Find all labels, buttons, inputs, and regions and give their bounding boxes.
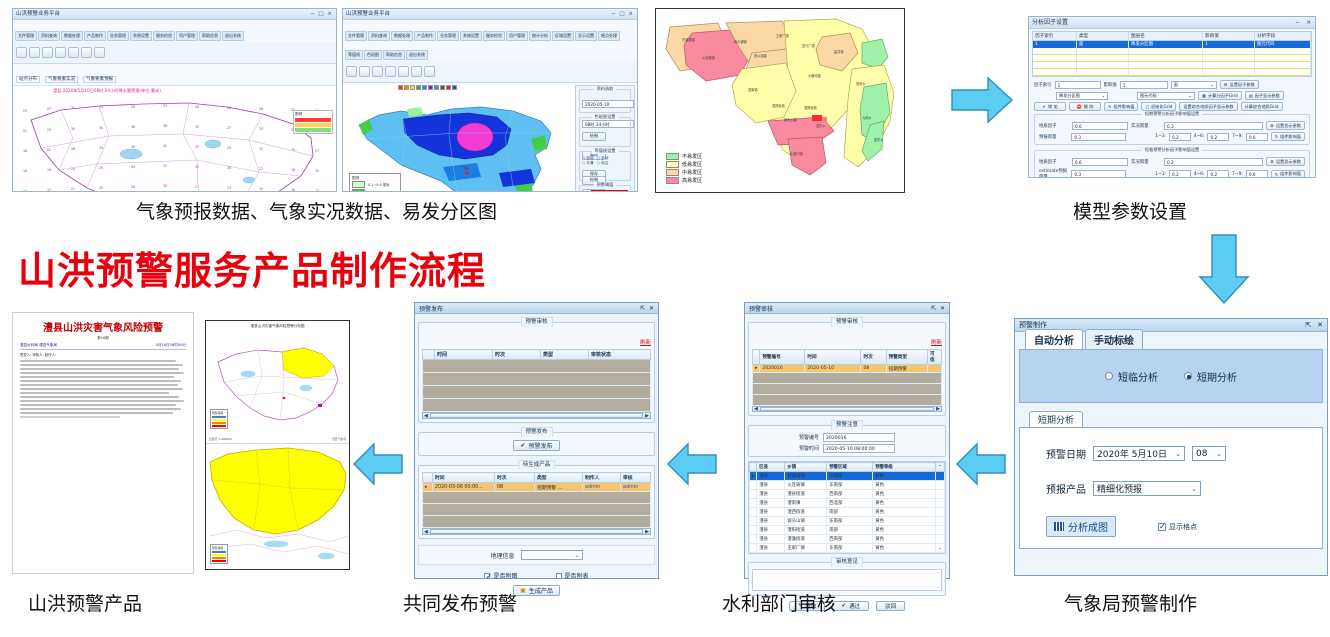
panel-warning-document[interactable]: 澧县山洪灾害气象风险预警 第16期 澧县水利局 澧县气象局 5月10日08时00… [12,312,194,574]
table-row-empty [423,516,651,528]
svg-text:23: 23 [23,109,27,113]
table-row[interactable]: 澧县 火连坡镇 东南部 黄色 [750,481,945,490]
factor-show-param-button[interactable]: ▤因子显示参数 [1245,91,1284,100]
menu-item[interactable]: 退出系统 [406,50,428,60]
group-title: 预警发布 [520,427,552,437]
factor-grid-row[interactable] [1033,48,1311,55]
menu-item[interactable]: 业务管理 [107,31,129,41]
cell-level: 黄色 [873,508,936,517]
cell-weight: 1 [1203,41,1255,48]
forecast-map-canvas[interactable]: 澧县 2020年5月10日08时 24小时降水量预报(单位:毫米) 232731… [13,86,336,192]
publish-action-fieldset: 预警发布 ✔预警发布 [418,432,655,456]
arrow-down-icon [1196,233,1252,305]
table-row[interactable]: 澧县 澧澹街道 西南部 黄色 [750,535,945,544]
observed-rain-input-2[interactable]: 0.2 [1164,158,1263,166]
arrow-left-icon [955,440,1007,488]
col-time: 时间 [433,473,495,483]
delete-factor-button[interactable]: ⛔删 除 [1069,102,1101,111]
col-reviewer: 审核 [621,473,651,483]
menu-item[interactable]: 资料查询 [368,31,390,41]
group-title: 预警阈值 [594,182,617,188]
pass-button[interactable]: ✔通过 [832,601,869,611]
table-row-empty [423,492,651,504]
factor-index-label: 因子索引 [1034,82,1052,88]
rainfall-side-dock[interactable]: 资料选取 2020-05-10 08时 24小时 色斑图设置 绘制 清除 保存 … [575,85,635,192]
menu-item[interactable]: 色斑图 [364,50,382,60]
factor-form[interactable]: 因子索引 1 影响值 1 面⌄ ⚙设置因子参数 降发分区图⌄ 图元代码⌄ ▦计算… [1029,77,1315,111]
cell-level: 黄色 [873,472,936,481]
table-row[interactable]: 澧县 澧西街道 南部 黄色 [750,508,945,517]
menu-item[interactable]: 显示设置 [575,31,597,41]
tab-station-distribution[interactable]: 站点分布 [16,76,40,83]
panel-product-maps[interactable]: 澧县山洪灾害气象风险预警分布图 预警等级 [205,320,350,570]
rainfall-menubar[interactable]: 文件管理资料查询数据处理产品制作业务管理系统设置服务检验用户管理统计分析区域设置… [343,20,637,61]
menu-item[interactable]: 数据处理 [61,31,83,41]
menu-item[interactable]: 文件管理 [345,31,367,41]
group-shade-settings: 色斑图设置 绘制 清除 保存 设置 [579,117,631,147]
cell-town: 王家厂镇 [785,544,827,553]
cell-level: 黄色 [873,535,936,544]
pending-products-grid[interactable]: 时间 时次 类型 制作人 审核 ▸ 2020-03-06 00:00... 08… [422,472,651,528]
menu-item[interactable]: 业务管理 [437,31,459,41]
factor-field-select[interactable]: 图元代码 [1140,92,1157,100]
save-icon[interactable] [29,47,40,58]
col-credible: 可信 [928,350,942,365]
color-label: 颜色 [582,191,589,193]
table-row-empty [423,504,651,516]
refresh-link[interactable]: 刷新 [931,340,942,346]
cell-level: 黄色 [873,544,936,553]
svg-text:32: 32 [195,125,199,129]
panel-susceptibility-map[interactable]: 甘溪滩镇火连坡镇 码头铺镇张公庙镇 王家厂镇复兴厂镇 盐井镇大堰垱镇 官垸乡澧南… [655,8,905,193]
observed-rain-label-2: 实况雨量 [1131,159,1161,165]
review-opinion-textarea[interactable]: ⌃ ⌄ [752,569,942,591]
warn-no-input[interactable]: 2020016 [823,433,895,442]
factor-grid-row[interactable] [1033,55,1311,62]
cell-field: 图元代码 [1255,41,1311,48]
group-title: 色斑图设置 [592,114,619,120]
geo-info-row[interactable]: 地理信息 ⌄ [418,545,655,565]
checkbox-icon[interactable] [1158,523,1166,531]
sub-label-2: 4~6: [1194,134,1205,139]
window-controls[interactable]: − □ × [310,9,333,20]
svg-text:26: 26 [259,107,263,111]
svg-text:29: 29 [131,105,135,109]
svg-text:澧东乡: 澧东乡 [816,123,826,128]
publish-review-fieldset: 预警审核 刷新 时间 时次 类型 审核状态 ◀▶ [418,322,655,423]
panel-rainfall-gis[interactable]: 山洪预警业务平台 − □ × 文件管理资料查询数据处理产品制作业务管理系统设置服… [342,8,638,192]
contour-icon[interactable] [411,66,422,77]
warning-detail-grid[interactable]: 区县 乡镇 预警区域 预警等级 ⌃ ▸ 澧县 甘溪滩镇 东南部 黄色 澧县 火连… [749,462,945,553]
legend-title: 预警等级 [212,411,226,415]
menu-item[interactable]: 统计分析 [529,31,551,41]
panel-model-parameters[interactable]: 分析因子设置 − ✕ 因子索引 类型 图层名 影响值 分析字段 1 面 降发分区… [1028,16,1316,178]
review-grid-hscroll[interactable]: ◀▶ [752,406,942,412]
svg-text:火连坡镇: 火连坡镇 [702,55,716,60]
svg-text:城头山镇: 城头山镇 [784,117,798,122]
factor-type-select[interactable]: 面 [1174,81,1178,89]
panel-forecast-titlebar: 山洪预警业务平台 − □ × [13,9,336,20]
pending-grid-hscroll[interactable]: ◀▶ [422,528,651,535]
show-gridpoints-checkbox[interactable]: 显示格点 [1158,522,1197,532]
legend-label: 中易发区 [682,169,702,176]
menu-item[interactable]: 用户管理 [176,31,198,41]
factor-weight-label: 影响值 [1104,82,1117,88]
col-type: 类型 [1077,32,1129,40]
geo-factor-input-2[interactable]: 0.6 [1072,158,1128,166]
tab-short-term-inner[interactable]: 短期分析 [1029,411,1083,427]
calc-factor-grid-button[interactable]: ▦计算分因子Grid [1198,91,1242,100]
svg-text:23: 23 [259,127,263,131]
warning-hour-picker[interactable]: 08⌄ [1192,446,1226,461]
panel-forecast-title: 山洪预警业务平台 [16,9,60,20]
close-icon[interactable]: ✕ [1317,321,1323,329]
zoning-legend: 不易发区 低易发区 中易发区 高易发区 [664,151,726,186]
page-title: 山洪预警服务产品制作流程 [18,240,486,295]
svg-text:17: 17 [47,188,51,192]
legend-swatch [295,128,331,132]
window-controls[interactable]: − ✕ [1295,17,1312,29]
sub-input-3[interactable]: 0.6 [1246,133,1268,141]
scroll-down-icon[interactable]: ⌄ [937,584,940,589]
cell-area: 东南部 [827,481,873,490]
inner-tabstrip[interactable]: 短期分析 [1019,408,1323,427]
short-term-form[interactable]: 预警日期 2020年 5月10日⌄ 08⌄ 预报产品 精细化预报⌄ 分析成图 [1019,427,1323,549]
forecast-menubar[interactable]: 文件管理资料查询数据处理产品制作业务管理系统设置服务检验用户管理帮助信息退出系统 [13,20,336,42]
group-title: 等值线设置 [592,148,619,154]
cell-area: 南部 [827,508,873,517]
refresh-weight-button[interactable]: ✎组件影响值 [1104,102,1138,111]
svg-text:19: 19 [47,168,51,172]
forecast-rain-input-2[interactable]: 0.3 [1071,170,1126,178]
observed-rain-label: 实况雨量 [1131,123,1161,129]
col-county: 区县 [757,463,785,472]
table-row-empty [423,386,651,399]
short-weight-button[interactable]: ✎组件影响值 [1271,132,1305,141]
cell-town: 澧西街道 [785,508,827,517]
legend-entry: 中易发区 [666,169,724,176]
cell-level: 黄色 [873,490,936,499]
svg-text:17: 17 [315,149,319,153]
pin-icon[interactable]: ⇱ [640,305,645,312]
analysis-mode-group[interactable]: 短临分析 短期分析 [1019,349,1323,403]
arrow-left-icon [666,440,718,488]
svg-text:31: 31 [71,106,75,110]
tab-forecast[interactable]: 气象要素预报 [83,76,116,83]
table-row[interactable]: 澧县 城头山镇 东南部 黄色 [750,517,945,526]
observed-rain-input[interactable]: 0.3 [1164,122,1263,130]
menu-item[interactable]: 退出系统 [222,31,244,41]
review-grid[interactable]: 预警编号 时间 时次 预警类型 可信 ▸ 2020016 2020-05-10 … [752,349,942,406]
rainfall-map-canvas[interactable]: 澧县 图例 0.1~9.9 毫米 10~24.9 毫米 25~49.9 毫米 5… [343,83,637,192]
table-row-empty [423,373,651,386]
svg-text:25: 25 [259,147,263,151]
zoom-in-icon[interactable] [55,47,66,58]
product-map-title: 澧县山洪灾害气象风险预警分布图 [206,324,349,329]
pin-icon[interactable]: ⇱ [931,305,936,312]
svg-text:37: 37 [163,164,167,168]
svg-text:九垸乡: 九垸乡 [862,115,872,120]
document-issuers: 澧县水利局 澧县气象局 [20,343,57,348]
warning-info-fieldset: 预警注意 预警编号 2020016 预警时间 2020-05-10 08:00:… [748,425,946,457]
svg-text:大堰垱镇: 大堰垱镇 [808,73,822,78]
make-product-button[interactable]: ▣生成产品 [513,585,560,596]
radio-imminent-analysis[interactable]: 短临分析 [1105,369,1158,384]
short-set-show-button[interactable]: ⚙设置显示参数 [1266,121,1305,130]
menu-item[interactable]: 资料查询 [38,31,60,41]
cell-town: 澧县街道 [785,490,827,499]
checkbox-icon[interactable] [556,573,562,579]
menu-item[interactable]: 服务检验 [483,31,505,41]
product-map-upper[interactable]: 澧县山洪灾害气象风险预警分布图 预警等级 [206,324,349,444]
legend-title: 预警等级 [212,546,226,550]
pin-icon[interactable]: ⇱ [1305,321,1311,329]
legend-entry: 低易发区 [666,161,724,168]
checkbox-icon[interactable] [484,573,490,579]
group-data-select: 资料选取 2020-05-10 08时 24小时 [579,89,631,113]
svg-text:盐井镇: 盐井镇 [834,49,844,54]
svg-text:15: 15 [315,169,319,173]
cell-type: 面 [1077,41,1129,48]
warn-time-input[interactable]: 2020-05-10 08:00:00 [823,444,895,453]
factor-layer-select[interactable]: 降发分区图 [1059,92,1080,100]
menu-item[interactable]: 文件管理 [15,31,37,41]
table-row[interactable]: 澧县 王家厂镇 东南部 黄色⌄ [750,544,945,553]
col-type: 类型 [541,350,589,360]
zoom-in-icon[interactable] [385,66,396,77]
attach-table-checkbox[interactable]: 是否附表 [556,571,589,580]
cell-area: 东南部 [827,517,873,526]
product-map-scale: 比例尺 1:400000 [209,437,232,441]
imminent-set-show-button[interactable]: ⚙设置显示参数 [1266,157,1305,166]
menu-item[interactable]: 数据处理 [391,31,413,41]
svg-text:王家厂镇: 王家厂镇 [776,33,790,38]
cell-county: 澧县 [757,517,785,526]
contour-option[interactable]: ○ 平滑 ○ 标注 [582,161,628,166]
tab-auto-analysis[interactable]: 自动分析 [1025,329,1083,349]
cell-level: 黄色 [873,526,936,535]
shade-draw-button[interactable]: 绘制 [582,132,606,141]
measure-icon[interactable] [81,47,92,58]
group-title: 短临预警分析因子影响值设置 [1142,147,1202,153]
panel-forecast-gis[interactable]: 山洪预警业务平台 − □ × 文件管理资料查询数据处理产品制作业务管理系统设置服… [12,8,337,192]
forecast-rain-label: 预报雨量 [1039,134,1068,140]
refresh-link[interactable]: 刷新 [640,340,651,346]
svg-text:27: 27 [227,126,231,130]
forecast-legend: 图例 [293,110,333,134]
menu-item[interactable]: 区域设置 [552,31,574,41]
product-map-source: 澧县气象局 [332,437,346,441]
make-tabstrip[interactable]: 自动分析 手动标绘 [1015,332,1327,349]
menu-item[interactable]: 产品制作 [84,31,106,41]
cell-county: 澧县 [757,490,785,499]
legend-entry: 不易发区 [666,153,724,160]
menu-item[interactable]: 用户管理 [506,31,528,41]
sub-input-5[interactable]: 0.2 [1207,170,1229,178]
table-row[interactable]: ▸ 2020-03-06 00:00... 08 短期预警 ... admin … [423,483,651,492]
calc-composite-grid-button[interactable]: 计算综合地质Grid [1241,102,1283,111]
table-row[interactable]: 澧县 澧县街道 西南部 黄色 [750,490,945,499]
cell-county: 澧县 [757,508,785,517]
print-icon[interactable] [372,66,383,77]
col-hour: 时次 [861,350,886,365]
pan-icon[interactable] [398,66,409,77]
layers-icon[interactable] [424,66,435,77]
forecast-toolbar[interactable] [13,42,336,64]
init-grid-button[interactable]: ◻初始化Grid [1141,102,1176,111]
close-icon[interactable]: ✕ [940,305,945,312]
menu-item[interactable]: 帮助信息 [199,31,221,41]
reject-button[interactable]: 驳回 [876,601,905,611]
imminent-weight-button[interactable]: ✎组件影响值 [1271,170,1305,179]
set-composite-show-button[interactable]: 设置综合地质因子显示参数 [1179,102,1237,111]
group-imminent-weights: 短临预警分析因子影响值设置 地质因子 0.6 实况雨量 0.2 ⚙设置显示参数 … [1034,150,1310,178]
panel-warning-publish[interactable]: 预警发布 ⇱ ✕ 预警审核 刷新 时间 时次 类型 审核状态 [414,302,659,579]
group-title: 审核意见 [831,557,863,567]
forecast-product-select[interactable]: 精细化预报⌄ [1093,481,1201,496]
menu-item[interactable]: 系统设置 [130,31,152,41]
layers-icon[interactable] [94,47,105,58]
sub-input-1[interactable]: 0.2 [1169,133,1191,141]
col-hour: 时次 [495,473,535,483]
menu-item[interactable]: 等值线 [345,50,363,60]
table-header-row: 时间 时次 类型 审核状态 [423,350,651,360]
svg-text:22: 22 [259,167,263,171]
cell-warn-no: 2020016 [760,365,805,373]
analyze-button[interactable]: 分析成图 [1046,516,1116,537]
review-window-title: 预警审核 [749,304,773,313]
col-hour: 时次 [493,350,541,360]
table-row[interactable]: 澧县 澧南镇 西北部 黄色 [750,499,945,508]
svg-text:27: 27 [47,107,51,111]
col-status: 审核状态 [589,350,651,360]
svg-text:28: 28 [71,147,75,151]
publish-grid-hscroll[interactable]: ◀▶ [422,412,651,419]
product-map-lower[interactable]: 预警等级 [206,444,349,570]
forecast-tabs[interactable]: 站点分布 气象要素实况 气象要素预报 [13,64,336,86]
open-file-icon[interactable] [16,47,27,58]
sub-input-4[interactable]: 0.2 [1169,170,1191,178]
menu-item[interactable]: 系统设置 [460,31,482,41]
forecast-rain-input[interactable]: 0.3 [1071,133,1126,141]
panel-water-review[interactable]: 预警审核 ⇱ ✕ 预警审核 刷新 预警编号 时间 时次 预警类型 可信 [744,302,950,579]
save-icon[interactable] [359,66,370,77]
table-row-empty [753,373,942,384]
factor-index-input[interactable]: 1 [1055,81,1101,89]
attach-options-row[interactable]: 是否附图 是否附表 [418,571,655,580]
document-title: 澧县山洪灾害气象风险预警 [20,319,186,334]
print-icon[interactable] [42,47,53,58]
svg-text:16: 16 [23,169,27,173]
cell-area: 南部 [827,526,873,535]
factor-weight-input[interactable]: 1 [1120,81,1168,89]
cell-county: 澧县 [757,544,785,553]
svg-text:19: 19 [259,187,263,191]
panel-warning-make[interactable]: 预警制作 ⇱ ✕ 自动分析 手动标绘 短临分析 短期分析 短期分析 预 [1014,318,1328,576]
document-issue: 第16期 [20,336,186,341]
pan-icon[interactable] [68,47,79,58]
set-factor-param-button[interactable]: ⚙设置因子参数 [1220,80,1259,89]
table-row[interactable]: ▸ 2020016 2020-05-10 08 短期预警 [753,365,942,373]
open-file-icon[interactable] [346,66,357,77]
cell-town: 澧澹街道 [785,535,827,544]
legend-entry: 0.1~9.9 毫米 [352,181,398,188]
caption-inputs: 气象预报数据、气象实况数据、易发分区图 [136,197,497,224]
radio-icon[interactable] [1184,372,1192,380]
menu-item[interactable]: 服务检验 [153,31,175,41]
factor-grid[interactable]: 因子索引 类型 图层名 影响值 分析字段 1 面 降发分区图 1 图元代码 [1032,31,1312,77]
radio-short-term-analysis[interactable]: 短期分析 [1184,369,1237,384]
factor-grid-row[interactable] [1033,62,1311,69]
threshold-color-swatch[interactable] [591,190,628,192]
scroll-up-icon[interactable]: ⌃ [937,571,940,576]
cell-level: 黄色 [873,517,936,526]
svg-text:23: 23 [227,186,231,190]
col-maker: 制作人 [583,473,621,483]
window-controls[interactable]: − □ × [611,9,634,20]
svg-text:28: 28 [131,185,135,189]
detail-grid-wrap[interactable]: 区县 乡镇 预警区域 预警等级 ⌃ ▸ 澧县 甘溪滩镇 东南部 黄色 澧县 火连… [748,461,946,554]
grid-icon [1054,522,1064,531]
warn-no-label: 预警编号 [799,434,819,441]
cell-county: 澧县 [757,499,785,508]
menu-item[interactable]: 产品制作 [414,31,436,41]
warning-date-picker[interactable]: 2020年 5月10日⌄ [1093,446,1185,461]
radio-icon[interactable] [1105,372,1113,380]
cell-area: 东南部 [827,544,873,553]
product-map-legend-2: 预警等级 [210,544,228,564]
caption-water-review: 水利部门审核 [722,589,836,616]
legend-label: 10~24.9 毫米 [368,190,391,192]
publish-review-grid[interactable]: 时间 时次 类型 审核状态 [422,349,651,412]
svg-text:如东乡: 如东乡 [874,137,884,142]
group-title: 短期预警分析因子影响值设置 [1142,111,1202,117]
add-factor-button[interactable]: ✔增 加 [1034,102,1066,111]
factor-grid-row[interactable] [1033,69,1311,76]
close-icon[interactable]: ✕ [649,305,654,312]
geo-info-label: 地理信息 [490,551,514,560]
col-level: 预警等级 [873,463,936,472]
legend-swatch [295,118,331,122]
geo-info-select[interactable]: ⌄ [521,550,583,560]
table-row-empty [423,399,651,412]
factor-grid-row[interactable]: 1 面 降发分区图 1 图元代码 [1033,41,1311,48]
cell-type: 短期预警 [886,365,927,373]
cell-area: 西南部 [827,490,873,499]
svg-text:34: 34 [99,126,103,130]
table-row[interactable]: 澧县 澧阳街道 南部 黄色 [750,526,945,535]
geo-factor-input[interactable]: 0.6 [1072,122,1128,130]
attach-map-checkbox[interactable]: 是否附图 [484,571,517,580]
menu-item[interactable]: 帮助信息 [383,50,405,60]
menu-item[interactable]: 格点处理 [598,31,620,41]
sub-label-3: 7~9: [1232,134,1243,139]
tab-observed[interactable]: 气象要素实况 [45,76,78,83]
date-field[interactable]: 2020-05-10 [582,100,634,108]
table-row[interactable]: ▸ 澧县 甘溪滩镇 东南部 黄色 [750,472,945,481]
sub-input-6[interactable]: 0.6 [1246,170,1268,178]
rainfall-toolbar[interactable] [343,61,637,83]
svg-text:33: 33 [99,146,103,150]
svg-text:36: 36 [131,125,135,129]
sub-input-2[interactable]: 0.2 [1207,133,1229,141]
svg-text:25: 25 [99,186,103,190]
publish-window-title: 预警发布 [419,304,443,313]
svg-text:澧西街道: 澧西街道 [772,103,786,108]
publish-warning-button[interactable]: ✔预警发布 [513,440,559,451]
tab-manual-draw[interactable]: 手动标绘 [1085,329,1143,349]
table-header-row: 时间 时次 类型 制作人 审核 [423,473,651,483]
